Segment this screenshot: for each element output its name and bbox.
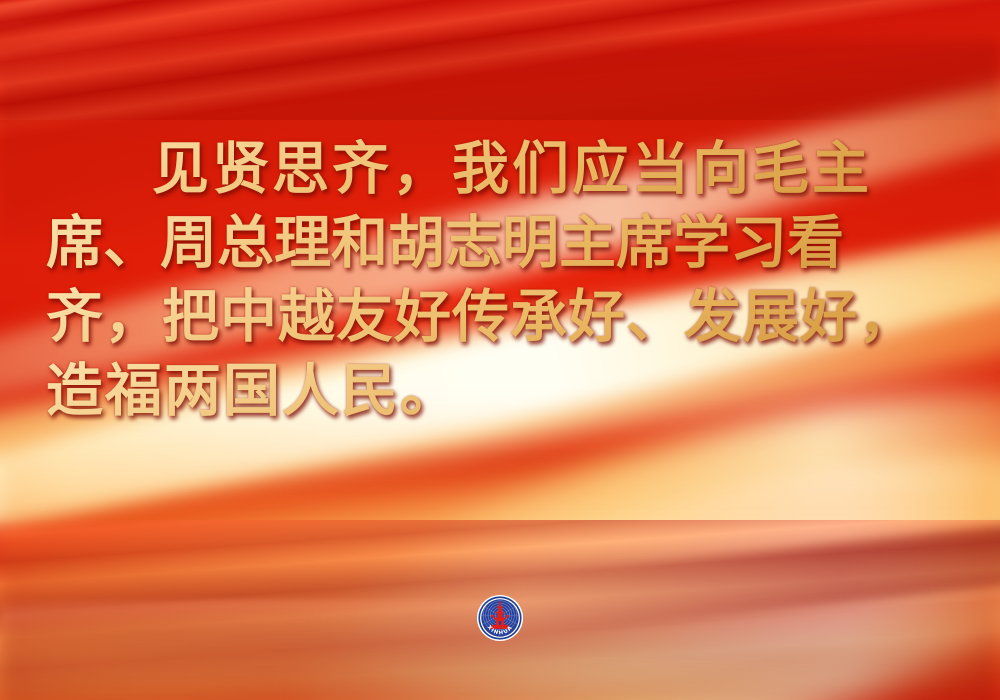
quote-text-block: 见贤思齐，我们应当向毛主 席、周总理和胡志明主席学习看 齐，把中越友好传承好、发… [0,132,1000,428]
quote-card: 见贤思齐，我们应当向毛主 席、周总理和胡志明主席学习看 齐，把中越友好传承好、发… [0,0,1000,700]
quote-line-3: 齐，把中越友好传承好、发展好， [46,280,954,354]
xinhua-logo: XINHUA [476,594,524,642]
quote-line-1: 见贤思齐，我们应当向毛主 [46,132,954,206]
xinhua-logo-icon: XINHUA [476,594,524,642]
quote-line-4: 造福两国人民。 [46,354,954,428]
quote-line-2: 席、周总理和胡志明主席学习看 [46,206,954,280]
